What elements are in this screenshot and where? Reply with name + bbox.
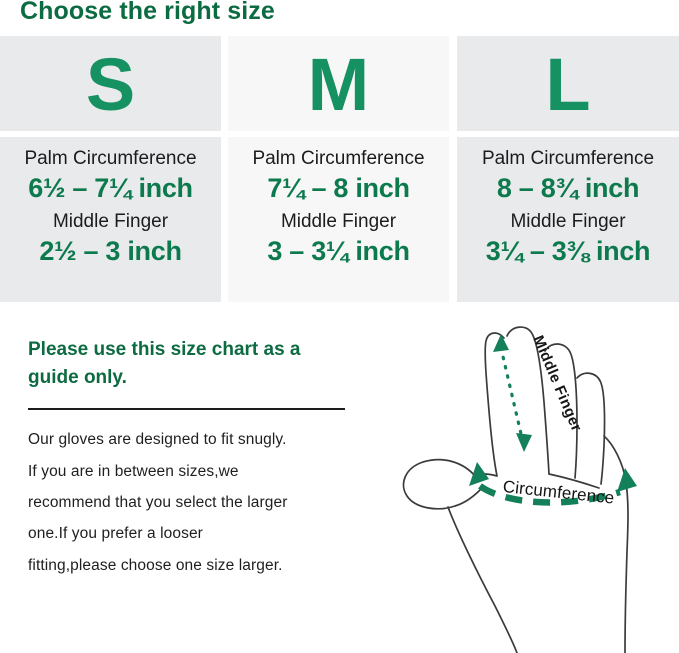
middle-finger-label: Middle Finger [4,210,217,234]
size-measurements-m: Palm Circumference 7¼ – 8 inch Middle Fi… [228,137,449,302]
palm-circumference-label: Palm Circumference [4,147,217,171]
size-letter-m: M [308,48,370,122]
middle-finger-value: 3¼ – 3⅜ inch [461,234,675,269]
palm-circumference-value: 8 – 8¾ inch [461,171,675,206]
palm-circumference-value: 6½ – 7¼ inch [4,171,217,206]
size-letter-box-m: M [228,36,449,131]
size-measurements-s: Palm Circumference 6½ – 7¼ inch Middle F… [0,137,221,302]
guide-note: Please use this size chart as a guide on… [28,336,358,581]
size-column-m: M Palm Circumference 7¼ – 8 inch Middle … [228,36,449,302]
size-letter-l: L [545,48,590,122]
palm-circumference-label: Palm Circumference [461,147,675,171]
middle-finger-label: Middle Finger [461,210,675,234]
guide-note-line: Our gloves are designed to fit snugly. [28,424,358,455]
divider [28,408,345,410]
guide-note-line: recommend that you select the larger [28,487,358,518]
guide-note-heading-line2: guide only. [28,364,358,392]
palm-circumference-value: 7¼ – 8 inch [232,171,445,206]
guide-note-body: Our gloves are designed to fit snugly. I… [28,424,358,581]
guide-note-line: If you are in between sizes,we [28,456,358,487]
size-column-s: S Palm Circumference 6½ – 7¼ inch Middle… [0,36,221,302]
middle-finger-value: 3 – 3¼ inch [232,234,445,269]
page-title: Choose the right size [20,0,275,26]
size-letter-s: S [86,48,135,122]
size-letter-box-l: L [457,36,679,131]
size-column-l: L Palm Circumference 8 – 8¾ inch Middle … [457,36,679,302]
guide-note-line: fitting,please choose one size larger. [28,550,358,581]
middle-finger-label: Middle Finger [232,210,445,234]
palm-circumference-label: Palm Circumference [232,147,445,171]
middle-finger-arrow [493,334,532,452]
middle-finger-value: 2½ – 3 inch [4,234,217,269]
guide-note-heading-line1: Please use this size chart as a [28,336,358,364]
size-measurements-l: Palm Circumference 8 – 8¾ inch Middle Fi… [457,137,679,302]
guide-note-line: one.If you prefer a looser [28,518,358,549]
size-letter-box-s: S [0,36,221,131]
size-table: S Palm Circumference 6½ – 7¼ inch Middle… [0,36,679,302]
size-chart-page: Choose the right size S Palm Circumferen… [0,0,679,653]
